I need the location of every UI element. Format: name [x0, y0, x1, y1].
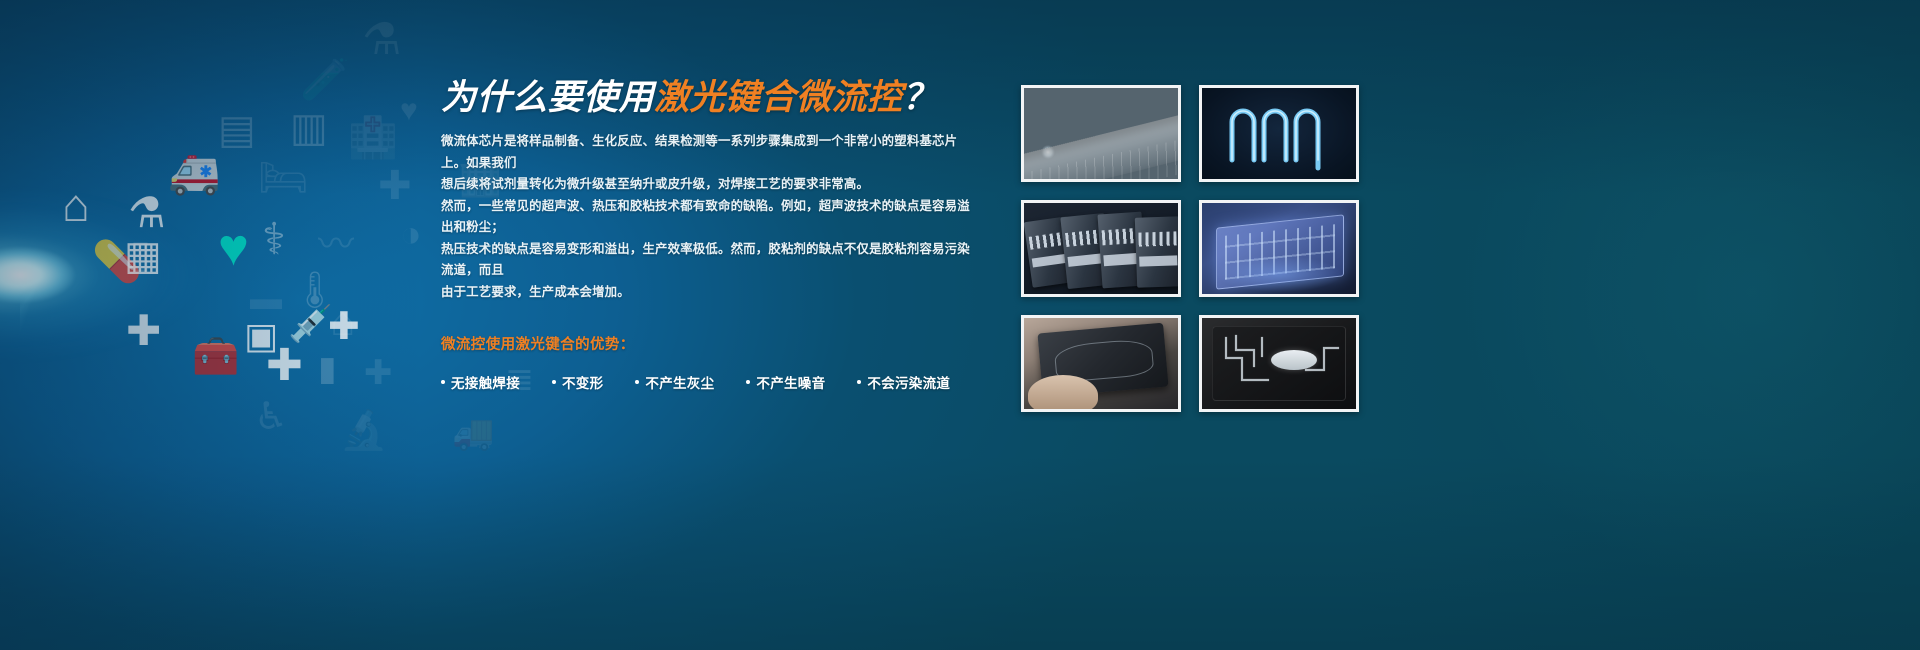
headline-question-mark: ？ [903, 78, 939, 117]
advantage-bullet-4: 不产生噪音 [746, 372, 825, 392]
syringe-icon: 💉 [288, 306, 333, 342]
advantage-bullet-label: 不产生噪音 [756, 372, 825, 392]
paragraph-line: 想后续将试剂量转化为微升级甚至纳升或皮升级，对焊接工艺的要求非常高。 [441, 174, 981, 196]
plus-small-icon: ✚ [364, 356, 393, 390]
med-bag-icon: 🧰 [192, 338, 239, 376]
paragraph-line: 热压技术的缺点是容易变形和溢出，生产效率极低。然而，胶粘剂的缺点不仅是胶粘剂容易… [441, 239, 981, 282]
advantage-bullet-label: 不变形 [562, 372, 603, 392]
heart-pulse-icon: ♥ [400, 96, 418, 126]
kidney-icon: ◑ [400, 216, 422, 252]
hospital-icon: 🏥 [348, 118, 398, 158]
manifold-glow [1202, 244, 1356, 297]
promo-banner: ⚗🧪♥▤▥🏥🚑🛏✚🏢⌂⚗♥⚕〰◑💊▯▦🌡▬✚⌂✚💉▣🧰✚▮✚♿🔬🚚𝌆 为什么要使… [0, 0, 1920, 650]
test-tube-icon: 🧪 [300, 60, 350, 100]
paragraph-line: 然而，一些常见的超声波、热压和胶粘技术都有致命的缺陷。例如，超声波技术的缺点是容… [441, 196, 981, 239]
clipboard-icon: ▥ [290, 108, 328, 148]
photo-hand-held-cartridge[interactable] [1021, 315, 1181, 412]
bullet-dot-icon [552, 380, 556, 384]
id-card-icon: ▤ [218, 110, 256, 150]
truck-icon: 🚚 [452, 416, 494, 450]
page-title: 为什么要使用激光键合微流控？ [441, 78, 981, 118]
cross-icon: ✚ [378, 166, 412, 206]
headline-prefix: 为什么要使用 [441, 78, 654, 117]
bullet-dot-icon [441, 380, 445, 384]
photo-black-cassette-chamber[interactable] [1199, 315, 1359, 412]
bullet-dot-icon [635, 380, 639, 384]
house-med-icon: ⌂ [330, 300, 355, 342]
ecg-line-icon: 〰 [318, 226, 354, 262]
advantage-bullet-2: 不变形 [552, 372, 603, 392]
advantage-bullet-label: 无接触焊接 [451, 372, 520, 392]
advantage-bullet-5: 不会污染流道 [857, 372, 950, 392]
reaction-chamber [1271, 350, 1317, 370]
right-side-glow [1360, 0, 1920, 650]
flask-solid-icon: ⚗ [128, 192, 166, 234]
ambulance-icon: 🚑 [168, 152, 220, 194]
chip-card [1135, 216, 1181, 287]
cross-large-icon: ✚ [266, 344, 303, 388]
house-cross-icon: ⌂ [62, 182, 90, 228]
photo-microfluidic-chip-wells[interactable] [1021, 85, 1181, 182]
body-paragraphs: 微流体芯片是将样品制备、生化反应、结果检测等一系列步骤集成到一个非常小的塑料基芯… [441, 131, 981, 303]
photo-image [1024, 88, 1178, 179]
serpentine-channel-icon [1202, 88, 1356, 179]
hand-finger [1028, 375, 1098, 412]
advantage-bullet-3: 不产生灰尘 [635, 372, 714, 392]
advantage-bullet-label: 不产生灰尘 [645, 372, 714, 392]
advantage-bullet-label: 不会污染流道 [867, 372, 950, 392]
flask-icon: ⚗ [362, 18, 401, 62]
bullet-dot-icon [857, 380, 861, 384]
bandage-icon: ▬ [250, 282, 282, 314]
paragraph-block-1: 微流体芯片是将样品制备、生化反应、结果检测等一系列步骤集成到一个非常小的塑料基芯… [441, 131, 981, 196]
advantages-bullet-list: 无接触焊接不变形不产生灰尘不产生噪音不会污染流道 [441, 372, 981, 392]
paragraph-line: 由于工艺要求，生产成本会增加。 [441, 282, 981, 304]
battery-icon: ▮ [318, 352, 337, 386]
photo-image [1202, 318, 1356, 409]
advantage-bullet-1: 无接触焊接 [441, 372, 520, 392]
advantages-subheading: 微流控使用激光键合的优势： [441, 333, 981, 354]
heart-ecg-icon: ♥ [218, 222, 249, 274]
bed-icon: 🛏 [258, 158, 309, 198]
photo-image [1202, 88, 1356, 179]
photo-image [1202, 203, 1356, 294]
banner-text-content: 为什么要使用激光键合微流控？ 微流体芯片是将样品制备、生化反应、结果检测等一系列… [441, 78, 981, 392]
photo-image [1024, 203, 1178, 294]
paragraph-line: 微流体芯片是将样品制备、生化反应、结果检测等一系列步骤集成到一个非常小的塑料基芯… [441, 131, 981, 174]
lab-rack-icon: ▦ [124, 236, 162, 276]
shield-cross-icon: ✚ [126, 310, 161, 352]
paragraph-block-2: 然而，一些常见的超声波、热压和胶粘技术都有致命的缺陷。例如，超声波技术的缺点是容… [441, 196, 981, 304]
photo-chip-array-slides[interactable] [1021, 200, 1181, 297]
headline-highlight: 激光键合微流控 [654, 78, 903, 117]
wheelchair-icon: ♿ [254, 398, 288, 436]
photo-transparent-manifold[interactable] [1199, 200, 1359, 297]
product-photo-grid [1021, 85, 1359, 412]
bullet-dot-icon [746, 380, 750, 384]
stethoscope-icon: ⚕ [262, 218, 286, 262]
photo-serpentine-channel-glow[interactable] [1199, 85, 1359, 182]
microscope-icon: 🔬 [340, 412, 387, 450]
photo-image [1024, 318, 1178, 409]
